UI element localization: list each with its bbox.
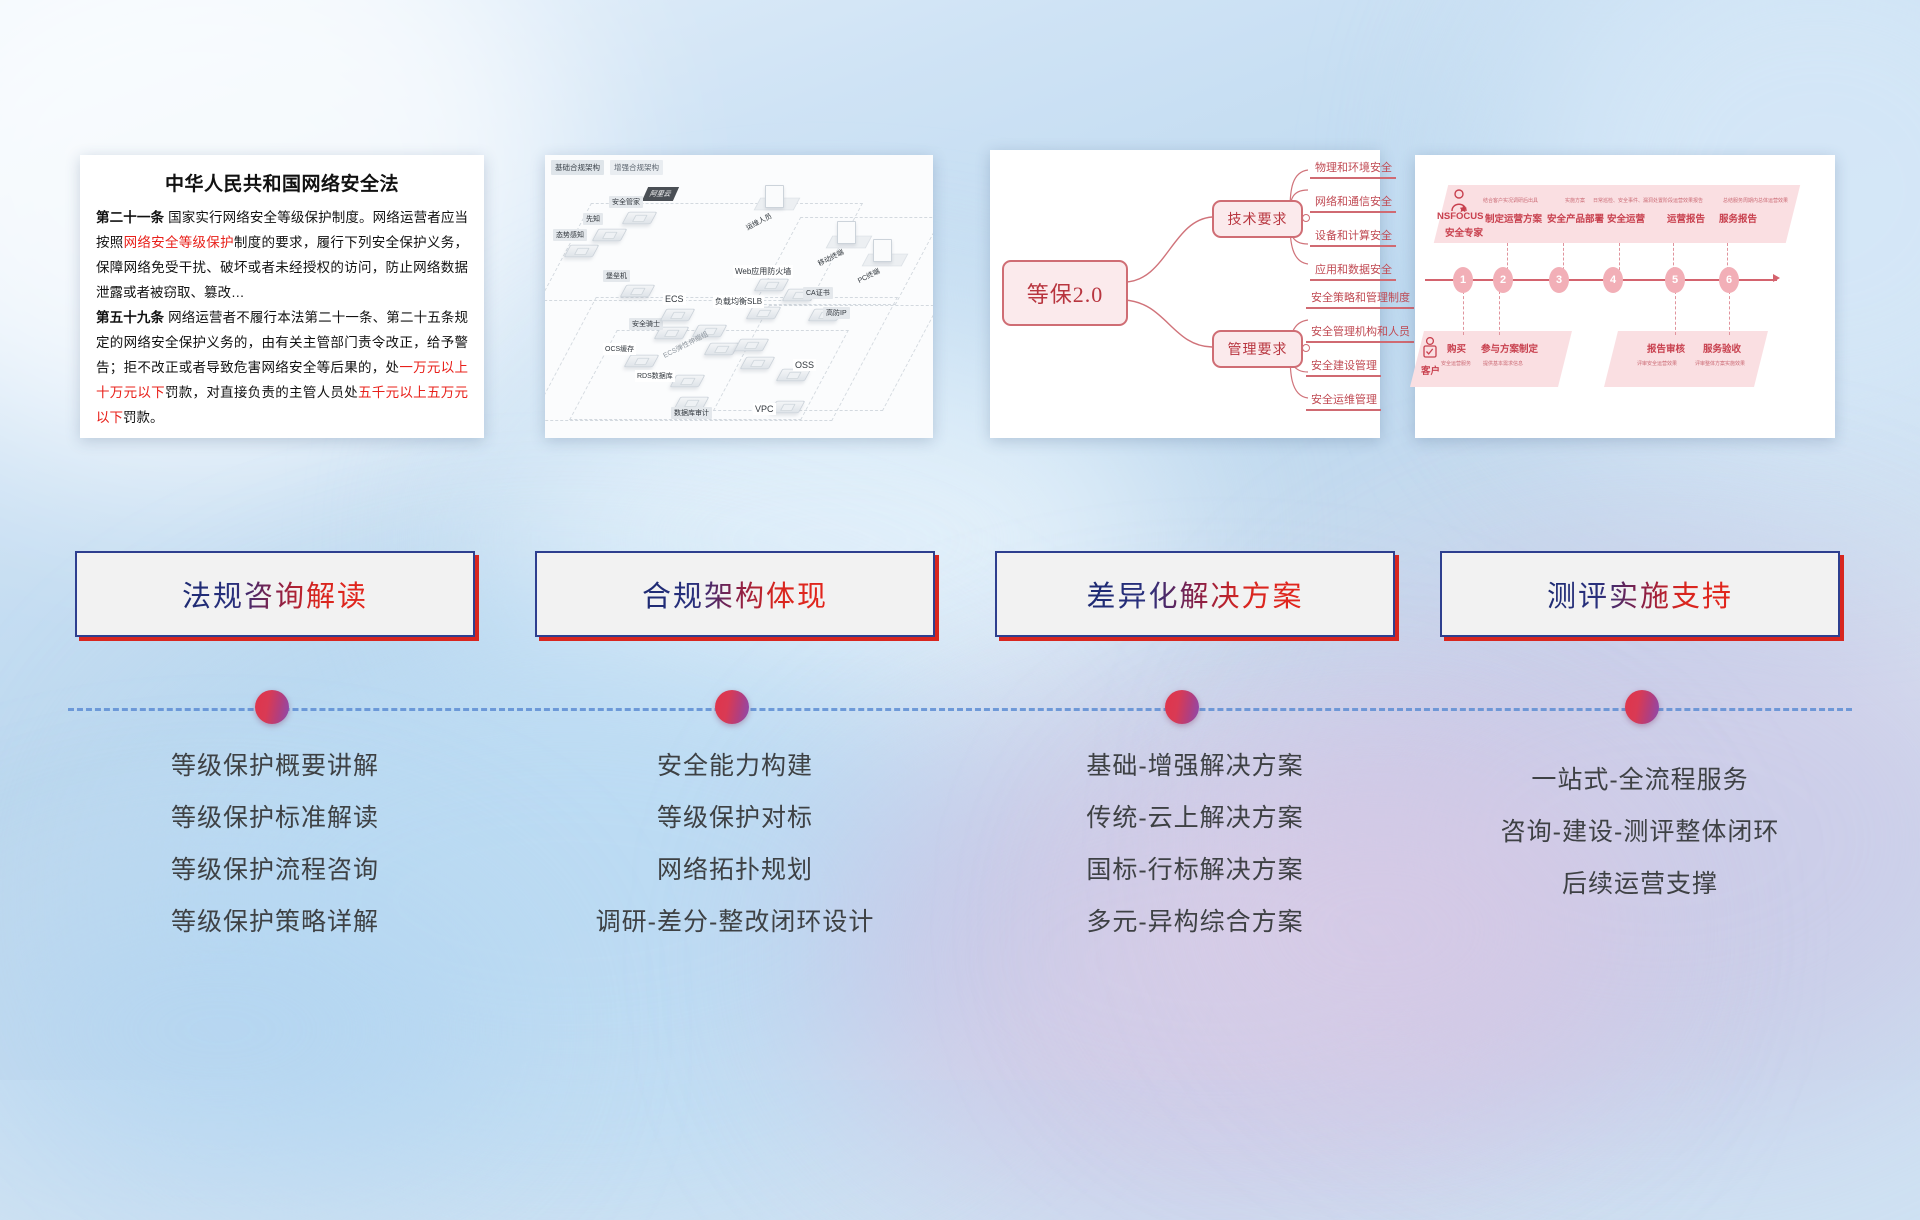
list-item: 咨询-建设-测评整体闭环: [1440, 806, 1840, 858]
list-item: 调研-差分-整改闭环设计: [535, 896, 935, 948]
list-item: 多元-异构综合方案: [995, 896, 1395, 948]
list-item: 后续运营支撑: [1440, 858, 1840, 910]
heading-regulation-consulting[interactable]: 法规咨询解读: [75, 551, 475, 637]
heading-label: 合规架构体现: [642, 573, 828, 615]
detail-column-1: 等级保护概要讲解 等级保护标准解读 等级保护流程咨询 等级保护策略详解: [75, 740, 475, 948]
list-item: 基础-增强解决方案: [995, 740, 1395, 792]
list-item: 安全能力构建: [535, 740, 935, 792]
heading-differentiated-solution[interactable]: 差异化解决方案: [995, 551, 1395, 637]
heading-compliance-architecture[interactable]: 合规架构体现: [535, 551, 935, 637]
heading-label: 法规咨询解读: [182, 573, 368, 615]
list-item: 等级保护标准解读: [75, 792, 475, 844]
detail-column-3: 基础-增强解决方案 传统-云上解决方案 国标-行标解决方案 多元-异构综合方案: [995, 740, 1395, 948]
detail-column-2: 安全能力构建 等级保护对标 网络拓扑规划 调研-差分-整改闭环设计: [535, 740, 935, 948]
timeline-marker-2[interactable]: [715, 690, 749, 724]
heading-label: 差异化解决方案: [1086, 573, 1303, 615]
timeline-marker-1[interactable]: [255, 690, 289, 724]
heading-assessment-support[interactable]: 测评实施支持: [1440, 551, 1840, 637]
timeline-dashed-line: [68, 708, 1852, 711]
list-item: 等级保护概要讲解: [75, 740, 475, 792]
list-item: 一站式-全流程服务: [1440, 754, 1840, 806]
list-item: 国标-行标解决方案: [995, 844, 1395, 896]
timeline-marker-3[interactable]: [1165, 690, 1199, 724]
heading-label: 测评实施支持: [1547, 573, 1733, 615]
list-item: 等级保护对标: [535, 792, 935, 844]
list-item: 等级保护策略详解: [75, 896, 475, 948]
list-item: 等级保护流程咨询: [75, 844, 475, 896]
list-item: 传统-云上解决方案: [995, 792, 1395, 844]
timeline-marker-4[interactable]: [1625, 690, 1659, 724]
detail-column-4: 一站式-全流程服务 咨询-建设-测评整体闭环 后续运营支撑: [1440, 754, 1840, 910]
list-item: 网络拓扑规划: [535, 844, 935, 896]
